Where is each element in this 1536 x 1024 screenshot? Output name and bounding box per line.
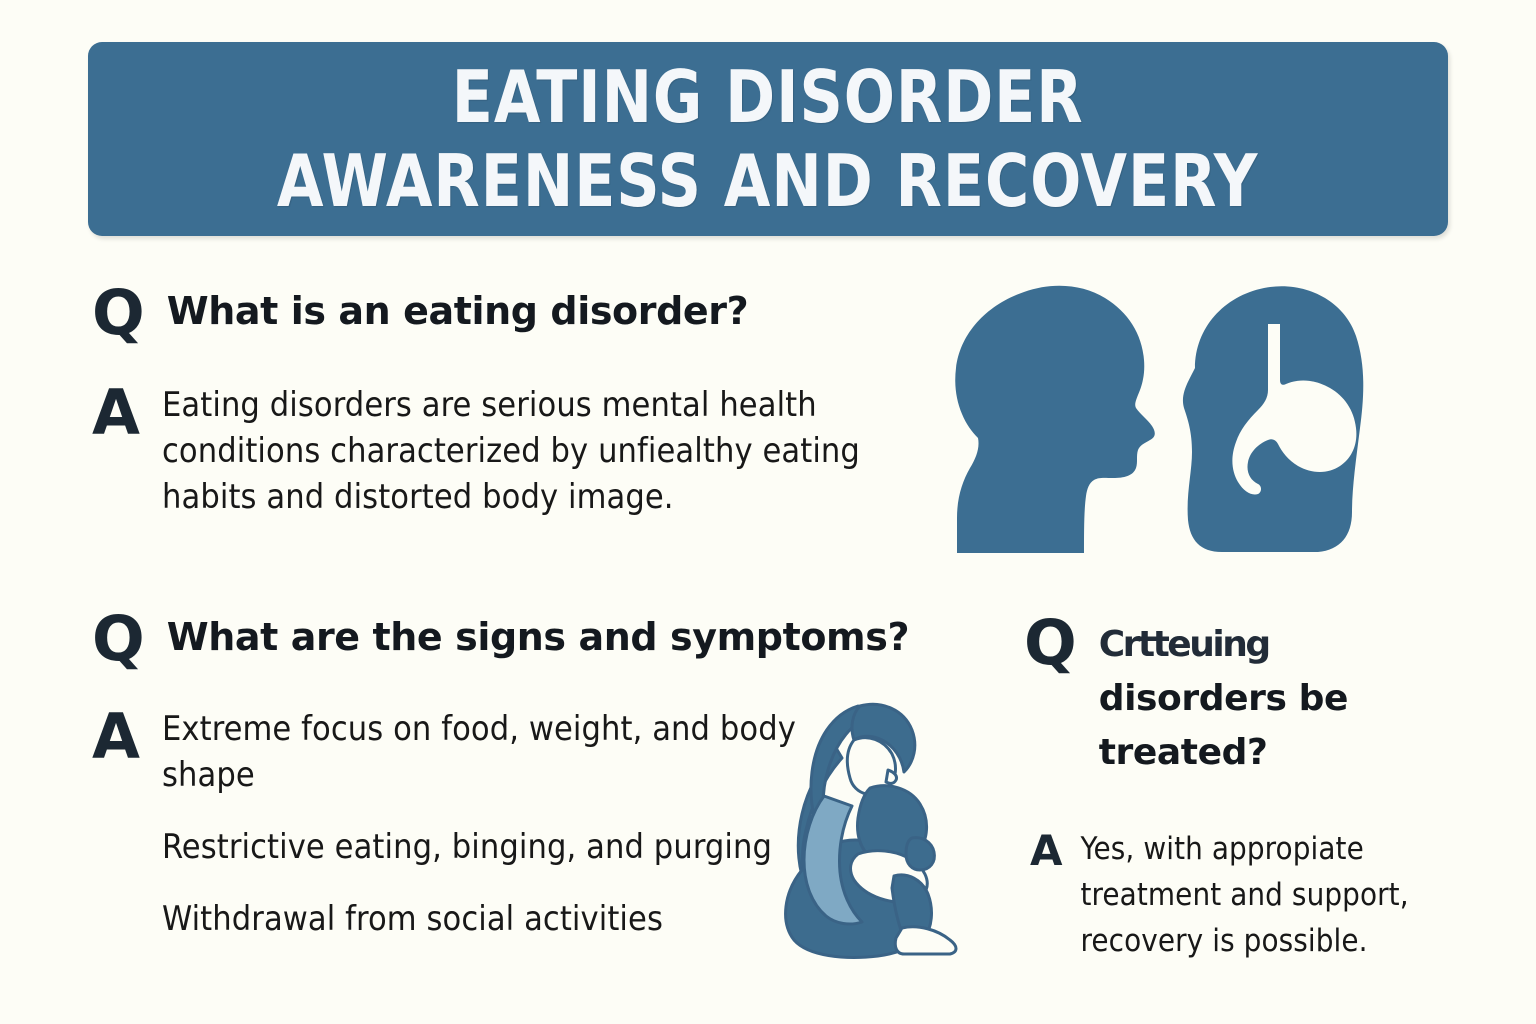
- question-text-2: What are the signs and symptoms?: [167, 608, 909, 660]
- seated-person-icon: [786, 704, 956, 957]
- question-marker-icon: Q: [1024, 612, 1077, 674]
- qa-question-1: Q What is an eating disorder?: [92, 282, 748, 344]
- qa-answer-1: A Eating disorders are serious mental he…: [92, 382, 862, 520]
- answer-marker-icon: A: [92, 706, 140, 768]
- symptom-item: Restrictive eating, binging, and purging: [162, 824, 862, 870]
- question-marker-icon: Q: [92, 608, 145, 670]
- question-marker-icon: Q: [92, 282, 145, 344]
- answer-paragraph: Eating disorders are serious mental heal…: [162, 382, 862, 520]
- question-text-3: Crtteuing disorders be treated?: [1099, 612, 1419, 780]
- qa-question-2: Q What are the signs and symptoms?: [92, 608, 909, 670]
- stomach-icon: [1183, 286, 1363, 552]
- symptom-item: Withdrawal from social activities: [162, 896, 862, 942]
- qa-answer-3: A Yes, with appropiate treatment and sup…: [1030, 826, 1421, 964]
- glitched-word: Crtteuing: [1099, 618, 1269, 672]
- illustration-seated-person: [762, 688, 1012, 965]
- poster-title-line-1: EATING DISORDER: [452, 55, 1084, 139]
- symptom-item: Extreme focus on food, weight, and body …: [162, 706, 862, 798]
- answer-text-2: Extreme focus on food, weight, and body …: [162, 706, 862, 942]
- title-banner: EATING DISORDER AWARENESS AND RECOVERY: [88, 42, 1448, 236]
- answer-marker-icon: A: [1030, 826, 1063, 872]
- head-profile-icon: [955, 286, 1155, 553]
- qa-answer-2: A Extreme focus on food, weight, and bod…: [92, 706, 862, 942]
- question-text-1: What is an eating disorder?: [167, 282, 749, 334]
- answer-text-1: Eating disorders are serious mental heal…: [162, 382, 862, 520]
- answer-text-3: Yes, with appropiate treatment and suppo…: [1081, 826, 1421, 964]
- illustration-head-and-stomach: [900, 272, 1390, 562]
- qa-question-3: Q Crtteuing disorders be treated?: [1024, 612, 1419, 780]
- answer-marker-icon: A: [92, 382, 140, 444]
- infographic-poster: EATING DISORDER AWARENESS AND RECOVERY Q…: [0, 0, 1536, 1024]
- poster-title-line-2: AWARENESS AND RECOVERY: [277, 139, 1258, 223]
- answer-paragraph: Yes, with appropiate treatment and suppo…: [1081, 826, 1421, 964]
- question-text-3-rest: disorders be treated?: [1099, 678, 1348, 773]
